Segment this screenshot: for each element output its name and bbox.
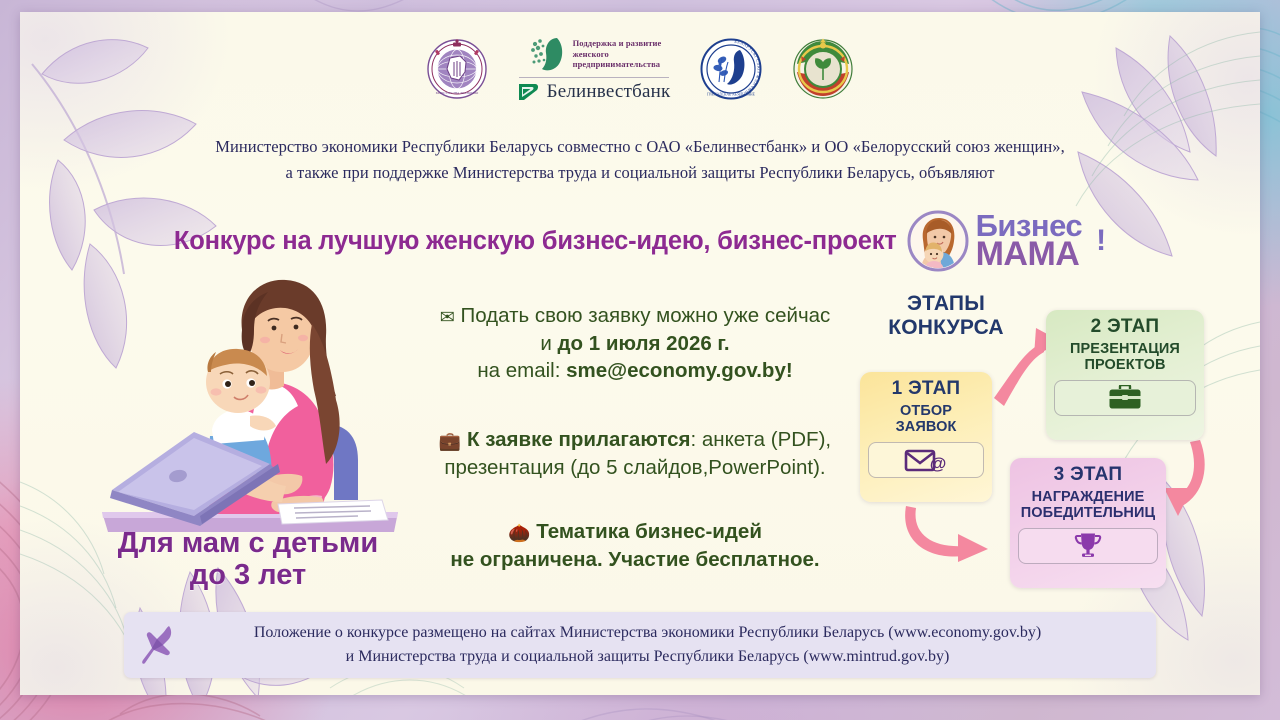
stages-title: ЭТАПЫ КОНКУРСА [866,292,1026,339]
belinvestbank-logo: Поддержка и развитие женского предприним… [518,34,671,103]
svg-text:ГРАМАДСКАЕ АБ'ЯДНАННЕ: ГРАМАДСКАЕ АБ'ЯДНАННЕ [708,92,756,96]
poster-card: МIНIСТЭРСТВА ЭКАНОМIКI [20,12,1260,695]
logo-row: МIНIСТЭРСТВА ЭКАНОМIКI [20,34,1260,103]
belinvest-slogan-line-2: женского [573,49,662,59]
stage-1-number: 1 ЭТАП [868,379,984,400]
biznes-mama-logo: Бизнес МАМА [907,210,1083,272]
apply-line-2: и до 1 июля 2026 г. [400,330,870,357]
stage-2-number: 2 ЭТАП [1054,317,1196,338]
intro-paragraph: Министерство экономики Республики Белару… [20,134,1260,185]
apply-deadline: до 1 июля 2026 г. [558,332,730,355]
pushpin-icon-wrap [124,624,194,666]
brand-line-2: МАМА [976,240,1083,270]
apply-line-1: ✉ Подать свою заявку можно уже сейчас [400,302,870,330]
bottom-note-text: Положение о конкурсе размещено на сайтах… [194,621,1156,669]
intro-line-2: а также при поддержке Министерства труда… [20,160,1260,186]
attach-line-2: презентация (до 5 слайдов,PowerPoint). [400,454,870,481]
bottom-note-line-1: Положение о конкурсе размещено на сайтах… [194,621,1101,645]
stage-1-label: ОТБОР ЗАЯВОК [868,404,984,436]
mother-and-baby-icon [907,210,969,272]
stages-title-line-1: ЭТАПЫ [866,292,1026,316]
intro-line-1: Министерство экономики Республики Белару… [20,134,1260,160]
belinvest-slogan-line-3: предпринимательства [573,59,662,69]
left-caption-line-1: Для мам с детьми [78,527,418,559]
stage-1-card[interactable]: 1 ЭТАП ОТБОР ЗАЯВОК @ [860,372,992,502]
attach-line-1: 💼 К заявке прилагаются: анкета (PDF), [400,426,870,454]
ministry-of-labour-emblem [792,38,854,100]
apply-line-3: на email: sme@economy.gov.by! [400,357,870,384]
woman-profile-icon [527,34,567,74]
attachments-block: 💼 К заявке прилагаются: анкета (PDF), пр… [400,426,870,481]
stage-3-label: НАГРАЖДЕНИЕ ПОБЕДИТЕЛЬНИЦ [1018,490,1158,522]
theme-line-1: 🌰 Тематика бизнес-идей [400,518,870,546]
briefcase-icon: 💼 [439,431,461,451]
leaf-icon: 🌰 [508,523,530,543]
email-at-icon: @ [904,447,948,473]
mother-with-laptop-illustration [82,264,412,549]
stage-2-icon-pill [1054,380,1196,416]
envelope-icon: ✉ [440,307,455,327]
belarusian-union-of-women-emblem: БЕЛАРУСКI САЮЗ ЖАНЧЫН ГРАМАДСКАЕ АБ'ЯДНА… [700,38,762,100]
headline-row: Конкурс на лучшую женскую бизнес-идею, б… [20,210,1260,272]
stage-2-card[interactable]: 2 ЭТАП ПРЕЗЕНТАЦИЯ ПРОЕКТОВ [1046,310,1204,440]
apply-email[interactable]: sme@economy.gov.by! [566,359,793,382]
ministry-of-economy-emblem: МIНIСТЭРСТВА ЭКАНОМIКI [426,38,488,100]
biznes-mama-wordmark: Бизнес МАМА [976,212,1083,269]
pushpin-icon [139,624,179,666]
belinvestbank-name: Белинвестбанк [547,81,671,103]
left-caption-line-2: до 3 лет [78,559,418,591]
brand-exclamation: ! [1096,224,1106,258]
briefcase-icon [1108,385,1142,411]
stages-diagram: ЭТАПЫ КОНКУРСА 1 ЭТАП ОТБОР ЗАЯВОК @ [848,290,1220,602]
svg-text:@: @ [930,454,947,473]
stage-3-icon-pill [1018,528,1158,564]
stage-3-number: 3 ЭТАП [1018,465,1158,486]
belinvest-slogan-line-1: Поддержка и развитие [573,38,662,48]
page-title: Конкурс на лучшую женскую бизнес-идею, б… [174,227,897,256]
trophy-icon [1073,532,1103,559]
bottom-note-line-2: и Министерства труда и социальной защиты… [194,645,1101,669]
stage-3-card[interactable]: 3 ЭТАП НАГРАЖДЕНИЕ ПОБЕДИТЕЛЬНИЦ [1010,458,1166,588]
bottom-note: Положение о конкурсе размещено на сайтах… [124,612,1156,678]
theme-block: 🌰 Тематика бизнес-идей не ограничена. Уч… [400,518,870,573]
belinvest-divider [519,77,669,78]
left-caption: Для мам с детьми до 3 лет [78,527,418,592]
svg-text:МIНIСТЭРСТВА ЭКАНОМIКI: МIНIСТЭРСТВА ЭКАНОМIКI [435,91,478,95]
theme-line-2: не ограничена. Участие бесплатное. [400,546,870,573]
stage-2-label: ПРЕЗЕНТАЦИЯ ПРОЕКТОВ [1054,342,1196,374]
apply-block: ✉ Подать свою заявку можно уже сейчас и … [400,302,870,384]
stages-title-line-2: КОНКУРСА [866,316,1026,340]
belinvestbank-mark-icon [518,82,540,102]
stage-1-icon-pill: @ [868,442,984,478]
poster-root: МIНIСТЭРСТВА ЭКАНОМIКI [0,0,1280,720]
